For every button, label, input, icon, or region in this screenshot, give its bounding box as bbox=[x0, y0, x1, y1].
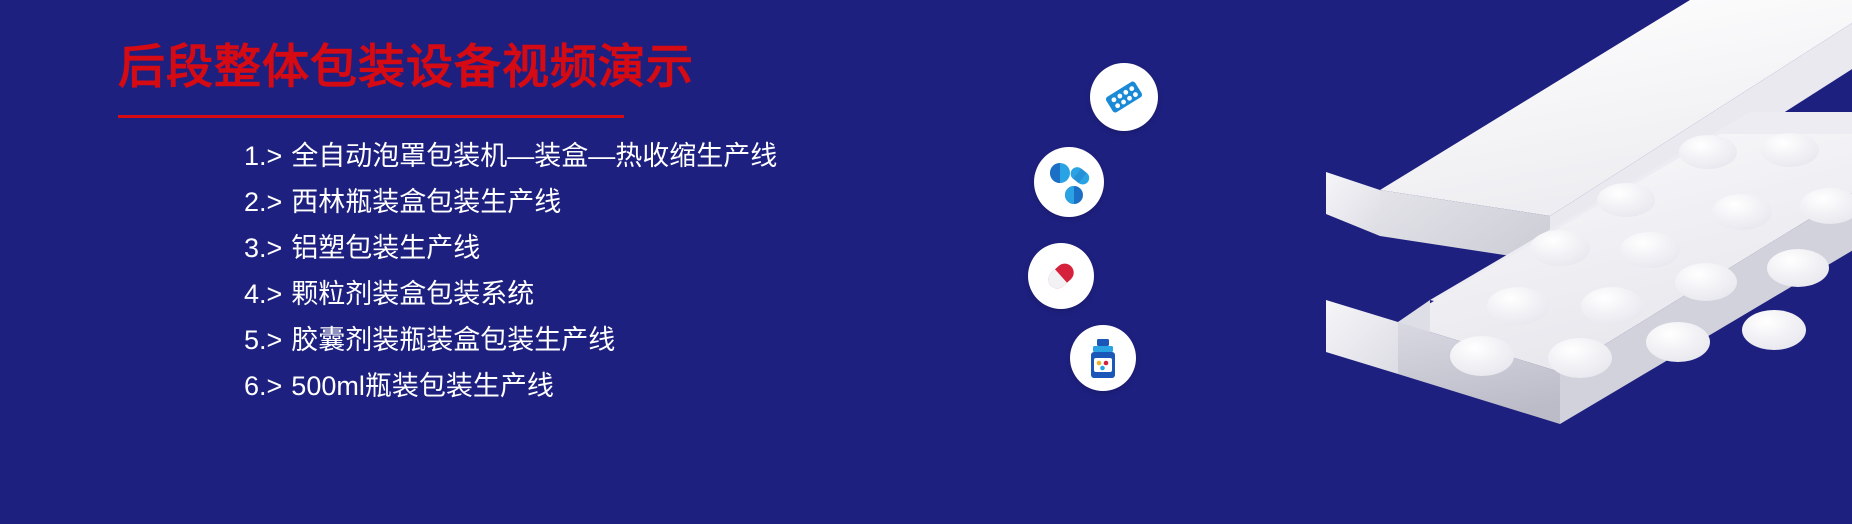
list-item-label: 500ml瓶装包装生产线 bbox=[291, 363, 554, 409]
medicine-bottle-icon bbox=[1070, 325, 1136, 391]
capsule-icon bbox=[1028, 243, 1094, 309]
title-block: 后段整体包装设备视频演示 bbox=[118, 38, 878, 118]
open-carton-with-tablets-illustration bbox=[1130, 0, 1852, 524]
list-item-number: 1.> bbox=[244, 133, 282, 179]
list-item[interactable]: 1.> 全自动泡罩包装机—装盒—热收缩生产线 bbox=[244, 133, 1144, 179]
list-item-number: 5.> bbox=[244, 317, 282, 363]
list-item-number: 3.> bbox=[244, 225, 282, 271]
list-item[interactable]: 3.> 铝塑包装生产线 bbox=[244, 225, 1144, 271]
page-title: 后段整体包装设备视频演示 bbox=[118, 38, 878, 97]
list-item-label: 铝塑包装生产线 bbox=[291, 225, 480, 271]
list-item-label: 颗粒剂装盒包装系统 bbox=[291, 271, 534, 317]
list-item[interactable]: 6.> 500ml瓶装包装生产线 bbox=[244, 363, 1144, 409]
list-item-label: 全自动泡罩包装机—装盒—热收缩生产线 bbox=[291, 133, 777, 179]
list-item-number: 6.> bbox=[244, 363, 282, 409]
promo-banner: 后段整体包装设备视频演示 1.> 全自动泡罩包装机—装盒—热收缩生产线 2.> … bbox=[0, 0, 1852, 524]
video-list: 1.> 全自动泡罩包装机—装盒—热收缩生产线 2.> 西林瓶装盒包装生产线 3.… bbox=[244, 133, 1144, 409]
pills-icon bbox=[1034, 147, 1104, 217]
title-underline-rule bbox=[118, 115, 624, 118]
list-item-number: 2.> bbox=[244, 179, 282, 225]
list-item[interactable]: 2.> 西林瓶装盒包装生产线 bbox=[244, 179, 1144, 225]
list-item[interactable]: 5.> 胶囊剂装瓶装盒包装生产线 bbox=[244, 317, 1144, 363]
list-item[interactable]: 4.> 颗粒剂装盒包装系统 bbox=[244, 271, 1144, 317]
list-item-label: 西林瓶装盒包装生产线 bbox=[291, 179, 561, 225]
list-item-label: 胶囊剂装瓶装盒包装生产线 bbox=[291, 317, 615, 363]
list-item-number: 4.> bbox=[244, 271, 282, 317]
